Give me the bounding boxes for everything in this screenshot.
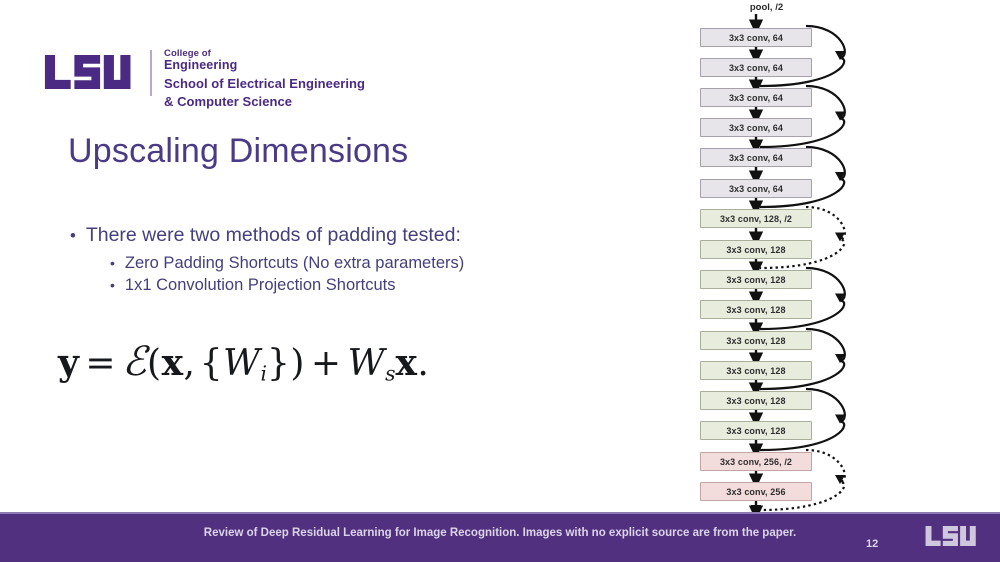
equation-equals: = — [85, 343, 116, 384]
resnet-architecture-diagram: pool, /2 3x3 conv, 643x3 conv, 643x3 con… — [680, 0, 900, 512]
equation-weight-w: W — [223, 343, 261, 384]
brand-school-line1: School of Electrical Engineering — [164, 76, 365, 91]
conv-block-128-13: 3x3 conv, 128 — [700, 391, 812, 410]
equation-comma: , — [184, 343, 196, 384]
equation-function-symbol: ℰ — [122, 338, 147, 385]
conv-block-128-14: 3x3 conv, 128 — [700, 421, 812, 440]
page-title: Upscaling Dimensions — [68, 132, 408, 171]
conv-block-64-1: 3x3 conv, 64 — [700, 28, 812, 47]
conv-block-64-4: 3x3 conv, 64 — [700, 118, 812, 137]
conv-block-64-5: 3x3 conv, 64 — [700, 148, 812, 167]
bullet-marker-icon: • — [110, 278, 115, 292]
conv-block-64-2: 3x3 conv, 64 — [700, 58, 812, 77]
conv-block-128-8: 3x3 conv, 128 — [700, 240, 812, 259]
footer-bar: Review of Deep Residual Learning for Ima… — [0, 512, 1000, 562]
equation-close-brace: } — [267, 343, 290, 384]
bullet-marker-icon: • — [110, 256, 115, 270]
brand-divider — [150, 50, 152, 96]
residual-equation: y=ℰ(x, {Wi})+Wsx. — [58, 338, 429, 386]
footer-note: Review of Deep Residual Learning for Ima… — [180, 526, 820, 542]
brand-engineering: Engineering — [164, 58, 365, 73]
equation-open-paren: ( — [147, 343, 162, 384]
brand-school-line2: & Computer Science — [164, 94, 365, 109]
equation-weight-ws: W — [348, 343, 386, 384]
conv-block-256-16: 3x3 conv, 256 — [700, 482, 812, 501]
conv-block-256-15: 3x3 conv, 256, /2 — [700, 452, 812, 471]
brand-header: College of Engineering School of Electri… — [44, 48, 365, 110]
equation-lhs: y — [58, 342, 79, 384]
page-number: 12 — [866, 538, 878, 550]
bullet-level2-text: Zero Padding Shortcuts (No extra paramet… — [125, 254, 464, 273]
bullet-level2-item: • 1x1 Convolution Projection Shortcuts — [110, 276, 464, 295]
bullet-level1-text: There were two methods of padding tested… — [86, 224, 461, 247]
equation-open-brace: { — [200, 343, 223, 384]
bullet-level2-text: 1x1 Convolution Projection Shortcuts — [125, 276, 396, 295]
equation-close-paren: ) — [290, 343, 305, 384]
bullet-marker-icon: • — [70, 228, 76, 245]
equation-subscript-s: s — [385, 362, 395, 386]
equation-rhs-x: x — [395, 342, 417, 384]
conv-block-64-6: 3x3 conv, 64 — [700, 179, 812, 198]
bullet-level1: • There were two methods of padding test… — [70, 224, 464, 247]
conv-block-64-3: 3x3 conv, 64 — [700, 88, 812, 107]
conv-block-128-10: 3x3 conv, 128 — [700, 300, 812, 319]
lsu-logo — [44, 52, 136, 92]
lsu-logo-footer — [925, 524, 979, 548]
equation-period: . — [417, 343, 429, 384]
equation-plus: + — [311, 343, 342, 384]
conv-block-128-7: 3x3 conv, 128, /2 — [700, 209, 812, 228]
conv-block-128-9: 3x3 conv, 128 — [700, 270, 812, 289]
bullet-list: • There were two methods of padding test… — [70, 224, 464, 298]
bullet-level2-item: • Zero Padding Shortcuts (No extra param… — [110, 254, 464, 273]
conv-block-128-11: 3x3 conv, 128 — [700, 331, 812, 350]
conv-block-128-12: 3x3 conv, 128 — [700, 361, 812, 380]
equation-arg-x: x — [162, 342, 184, 384]
